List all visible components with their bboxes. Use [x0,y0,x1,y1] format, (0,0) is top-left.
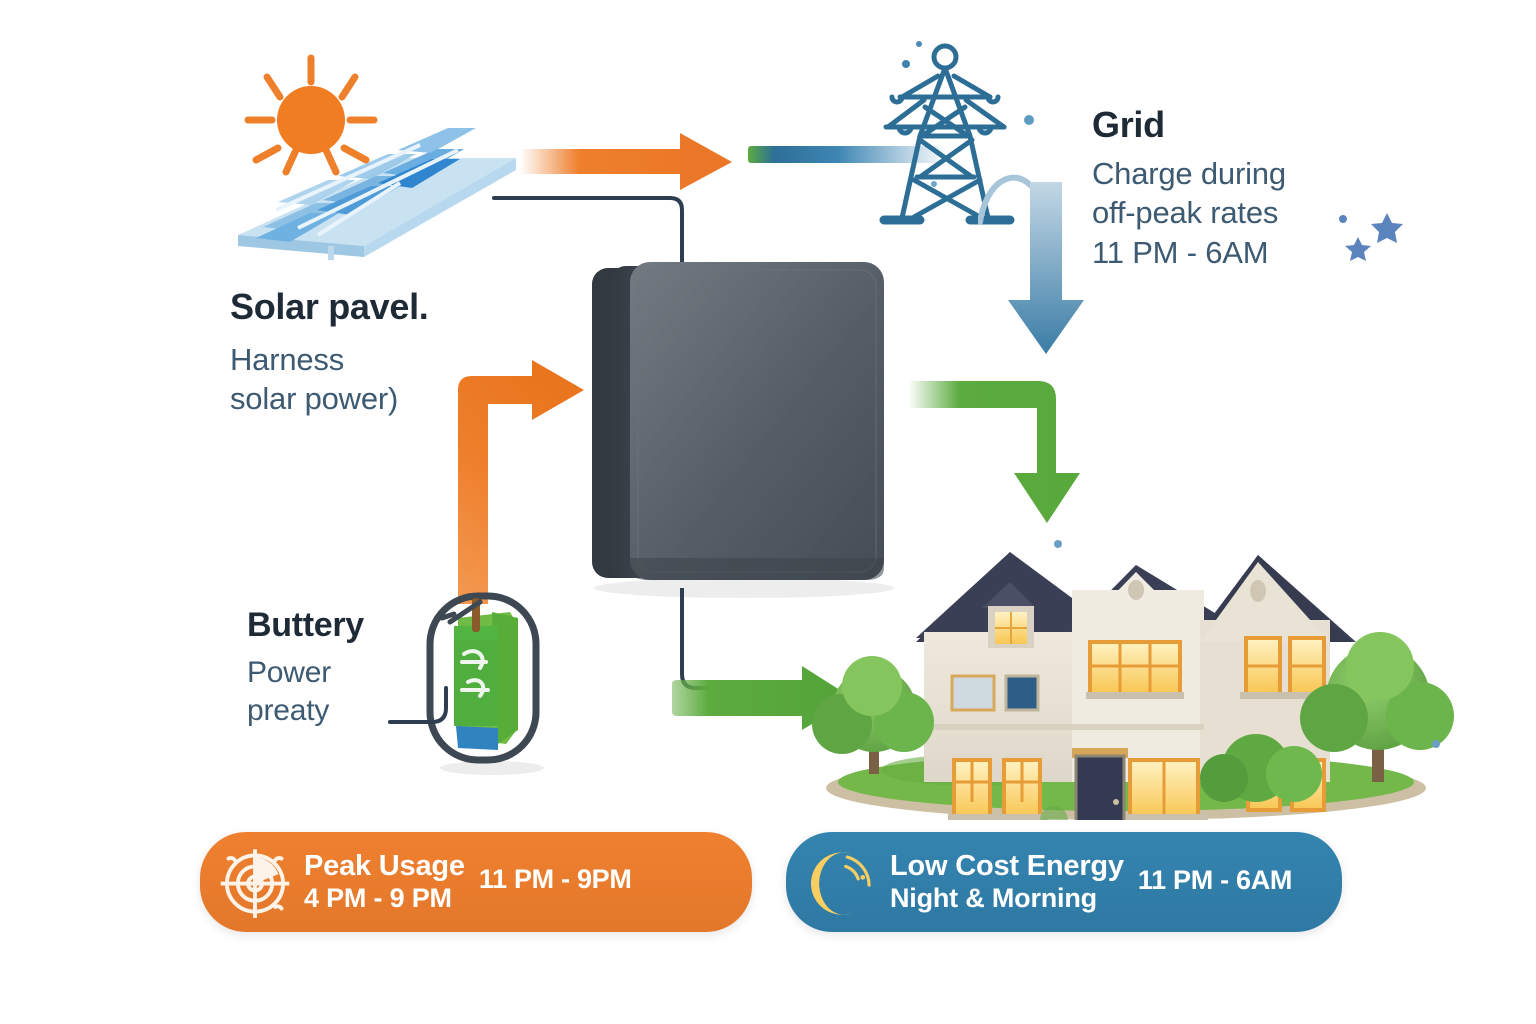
radar-target-icon [216,843,294,921]
grid-label-block: Grid Charge during off-peak rates 11 PM … [1092,106,1286,272]
solar-subtitle-line2: solar power) [230,379,429,418]
grid-subtitle-line2: off-peak rates [1092,193,1286,232]
peak-badge-line2: 4 PM - 9 PM [304,883,465,913]
solar-to-grid-arrow [520,128,750,198]
peak-badge-time: 11 PM - 9PM [479,864,632,895]
low-cost-energy-badge[interactable]: Low Cost Energy Night & Morning 11 PM - … [786,832,1342,932]
crescent-moon-icon [802,843,880,921]
solar-subtitle-line1: Harness [230,340,429,379]
peak-badge-line1: Peak Usage [304,851,465,881]
grid-to-battery-arrow [1004,182,1104,362]
low-cost-badge-time: 11 PM - 6AM [1138,865,1292,896]
grid-subtitle-line1: Charge during [1092,154,1286,193]
solar-title: Solar pavel. [230,288,429,326]
house-illustration-icon [796,520,1464,820]
cell-to-storage-elbow-arrow [436,358,596,608]
battery-subtitle-line1: Power [247,654,364,692]
battery-to-home-elbow-arrow [908,360,1088,540]
grid-subtitle-line3: 11 PM - 6AM [1092,233,1286,272]
battery-pointer-line [388,676,468,736]
peak-usage-badge[interactable]: Peak Usage 4 PM - 9 PM 11 PM - 9PM [200,832,752,932]
low-cost-badge-line1: Low Cost Energy [890,851,1124,881]
battery-subtitle-line2: preaty [247,692,364,730]
star-icon [1330,205,1420,275]
low-cost-badge-line2: Night & Morning [890,883,1124,913]
solar-label-block: Solar pavel. Harness solar power) [230,288,429,419]
infographic-canvas: Solar pavel. Harness solar power) [0,0,1536,1024]
battery-label-block: Buttery Power preaty [247,608,364,730]
solar-panel-with-sun-icon [168,50,528,280]
battery-title: Buttery [247,608,364,644]
grid-title: Grid [1092,106,1286,144]
